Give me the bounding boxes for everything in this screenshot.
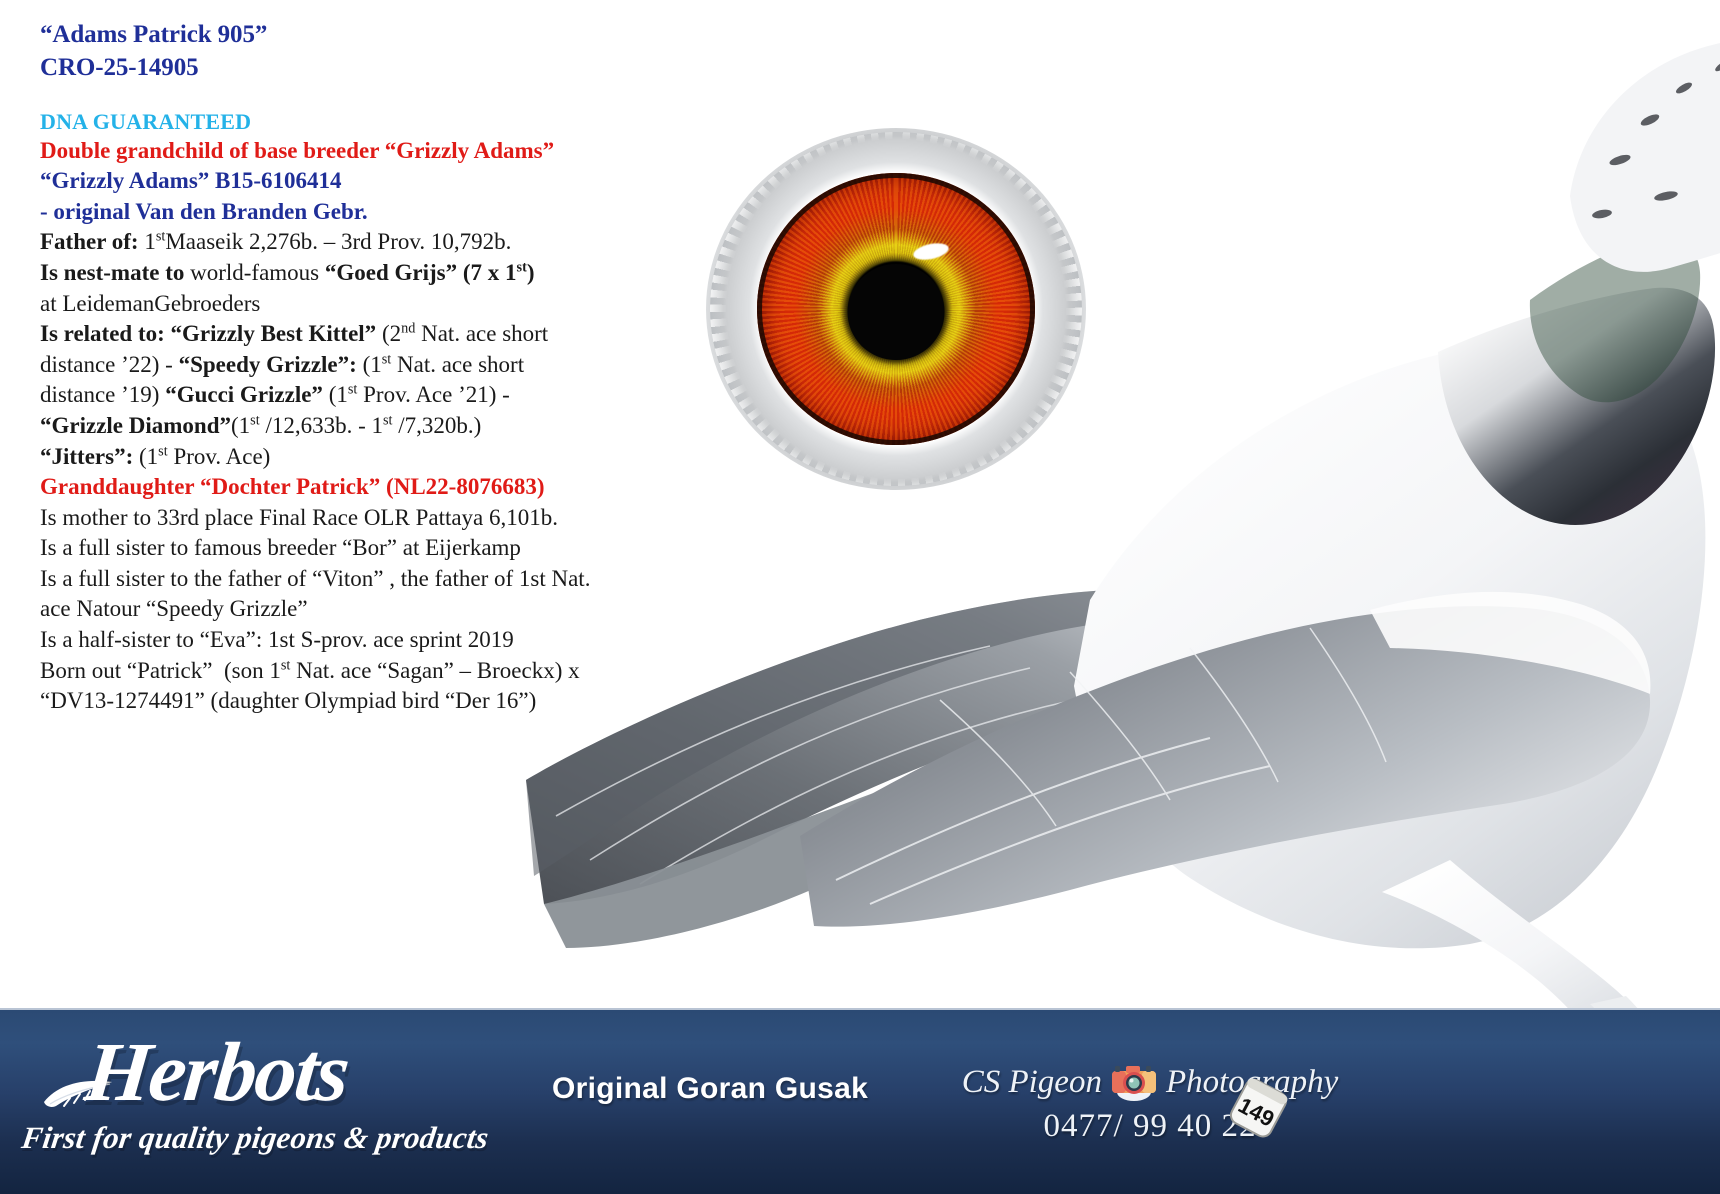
ordinal-st: st [156,229,166,245]
father-of-label: Father of: [40,229,139,254]
bottom-banner: Herbots First for quality pigeons & prod… [0,1008,1720,1194]
ordinal-st: st [383,412,393,428]
herbots-wordmark: Herbots [81,1024,353,1121]
ordinal-st: st [382,351,392,367]
photo-credit: Original Goran Gusak [552,1072,868,1106]
father-of-value: 1stMaaseik 2,276b. – 3rd Prov. 10,792b. [139,229,512,254]
gucci-grizzle-bold: “Gucci Grizzle” [165,382,323,407]
ordinal-st: st [158,443,168,459]
ordinal-nd: nd [401,321,415,337]
photographer-name-a: CS Pigeon [962,1064,1102,1101]
distance-19: distance ’19) [40,382,165,407]
photographer-name-line: CS Pigeon Photography [940,1062,1360,1102]
grizzle-diamond-bold: “Grizzle Diamond” [40,413,231,438]
speedy-grizzle-bold: “Speedy Grizzle”: [179,352,357,377]
distance-22: distance ’22) - [40,352,179,377]
jitters-tail: (1st Prov. Ace) [133,444,270,469]
camera-icon [1108,1062,1160,1102]
herbots-tagline: First for quality pigeons & products [19,1120,490,1156]
pedigree-card: “Adams Patrick 905” CRO-25-14905 DNA GUA… [0,0,1720,1194]
jitters-bold: “Jitters”: [40,444,133,469]
nestmate-label: Is nest-mate to [40,260,184,285]
photographer-block: CS Pigeon Photography 0477/ 99 40 22 [940,1062,1360,1145]
related-to-label: Is related to: “Grizzly Best Kittel” [40,321,376,346]
grizzle-diamond-tail: (1st /12,633b. - 1st /7,320b.) [231,413,481,438]
nestmate-mid: world-famous [184,260,325,285]
photographer-phone: 0477/ 99 40 22 [940,1108,1360,1145]
head [1570,39,1720,272]
herbots-logo[interactable]: Herbots First for quality pigeons & prod… [18,1016,468,1191]
ordinal-st: st [348,382,358,398]
ordinal-st: st [281,657,291,673]
ordinal-st: st [250,412,260,428]
